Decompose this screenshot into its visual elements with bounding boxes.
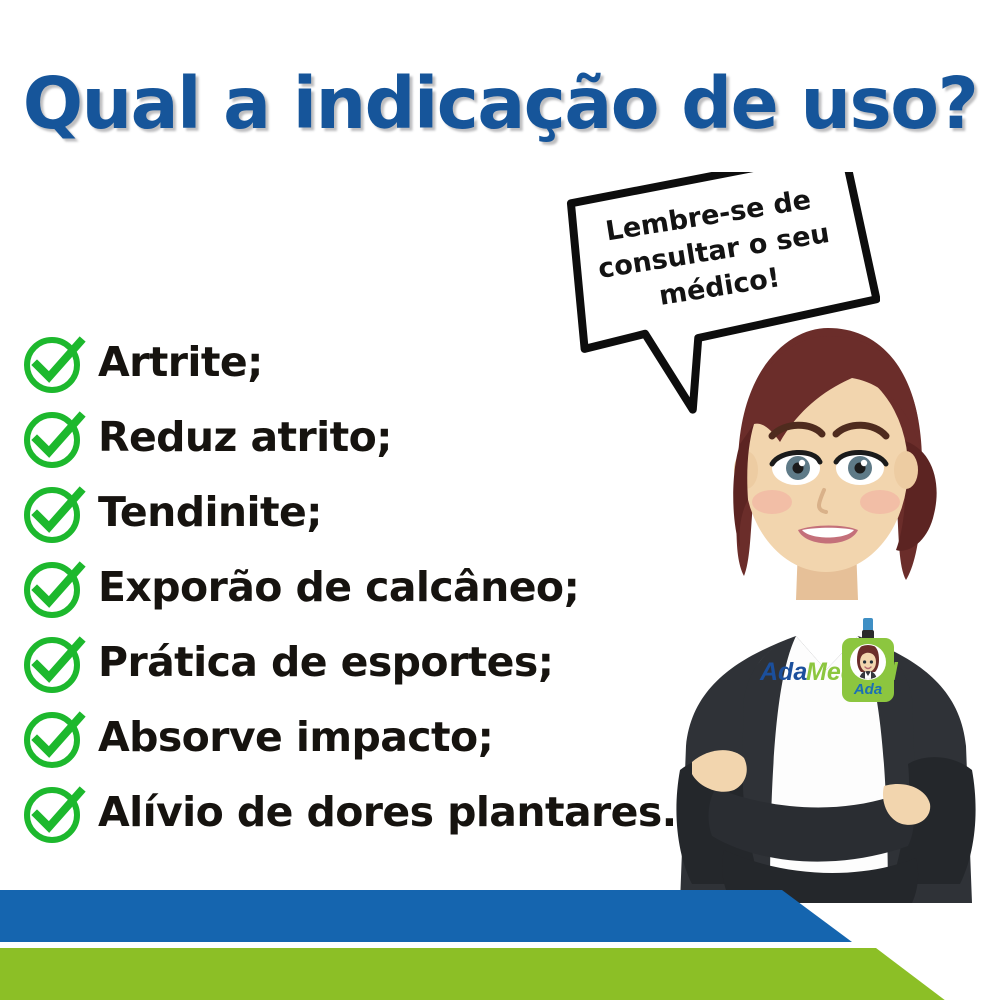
list-item-label: Reduz atrito; — [98, 417, 392, 458]
footer-green-bar — [0, 948, 1000, 1000]
list-item: Tendinite; — [22, 475, 722, 550]
green-check-circle-icon — [22, 707, 84, 769]
green-check-circle-icon — [22, 557, 84, 619]
eye-left — [772, 451, 820, 485]
list-item-label: Absorve impacto; — [98, 717, 493, 758]
list-item-label: Artrite; — [98, 342, 263, 383]
cheek-left — [752, 490, 792, 514]
list-item: Alívio de dores plantares. — [22, 775, 722, 850]
list-item-label: Prática de esportes; — [98, 642, 553, 683]
badge-name-label: Ada — [853, 681, 882, 698]
id-badge: Ada — [842, 618, 894, 702]
green-check-circle-icon — [22, 407, 84, 469]
speech-bubble-text: Lembre-se de consultar o seu médico! — [567, 177, 861, 328]
list-item-label: Exporão de calcâneo; — [98, 567, 579, 608]
list-item-label: Alívio de dores plantares. — [98, 792, 677, 833]
list-item: Absorve impacto; — [22, 700, 722, 775]
footer-blue-bar — [0, 890, 1000, 942]
ear-right — [894, 451, 918, 489]
poster-canvas: Qual a indicação de uso? Artrite; Reduz … — [0, 0, 1000, 1000]
page-title: Qual a indicação de uso? — [0, 62, 1000, 145]
green-check-circle-icon — [22, 782, 84, 844]
list-item-label: Tendinite; — [98, 492, 322, 533]
green-check-circle-icon — [22, 332, 84, 394]
list-item: Prática de esportes; — [22, 625, 722, 700]
list-item: Exporão de calcâneo; — [22, 550, 722, 625]
speech-bubble: Lembre-se de consultar o seu médico! — [560, 172, 880, 422]
green-check-circle-icon — [22, 632, 84, 694]
cheek-right — [860, 490, 900, 514]
green-check-circle-icon — [22, 482, 84, 544]
shirt-logo-ada: Ada — [759, 658, 807, 686]
